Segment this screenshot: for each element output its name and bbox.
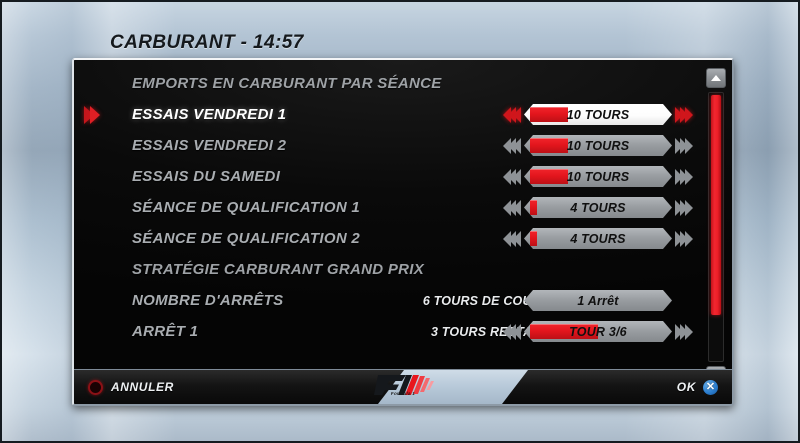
increment-arrows-icon[interactable] — [675, 169, 705, 185]
value-bar-fill — [530, 169, 568, 184]
cancel-button[interactable]: ANNULER — [74, 370, 404, 404]
value-bar: 4 TOURS — [524, 228, 672, 249]
value-bar: TOUR 3/6 — [524, 321, 672, 342]
value-text: 10 TOURS — [567, 139, 630, 153]
value-bar: 10 TOURS — [524, 104, 672, 125]
value-bar-fill — [530, 138, 568, 153]
decrement-arrows-icon[interactable] — [491, 169, 521, 185]
selection-marker-icon — [84, 105, 120, 125]
setting-label: ESSAIS VENDREDI 2 — [132, 137, 286, 154]
page-title: CARBURANT - 14:57 — [110, 32, 304, 54]
value-text: 10 TOURS — [567, 170, 630, 184]
setting-row[interactable]: NOMBRE D'ARRÊTS6 TOURS DE COURSE1 Arrêt — [74, 285, 732, 316]
setting-row[interactable]: SÉANCE DE QUALIFICATION 24 TOURS — [74, 223, 732, 254]
setting-label: ESSAIS DU SAMEDI — [132, 168, 280, 185]
section-heading-label: STRATÉGIE CARBURANT GRAND PRIX — [132, 261, 424, 278]
increment-arrows-icon[interactable] — [675, 107, 705, 123]
decrement-arrows-icon[interactable] — [491, 231, 521, 247]
setting-row[interactable]: ARRÊT 13 TOURS RESTANTSTOUR 3/6 — [74, 316, 732, 347]
value-stepper[interactable]: 10 TOURS — [491, 166, 705, 188]
decrement-arrows-icon[interactable] — [491, 138, 521, 154]
setting-label: ARRÊT 1 — [132, 323, 198, 340]
value-stepper[interactable]: 10 TOURS — [491, 135, 705, 157]
value-text: 1 Arrêt — [577, 294, 618, 308]
increment-arrows-icon[interactable] — [675, 200, 705, 216]
chevron-up-icon — [711, 75, 721, 81]
value-text: 10 TOURS — [567, 108, 630, 122]
value-bar: 4 TOURS — [524, 197, 672, 218]
value-stepper[interactable]: 10 TOURS — [491, 104, 705, 126]
setting-label: ESSAIS VENDREDI 1 — [132, 106, 286, 123]
value-stepper[interactable]: 4 TOURS — [491, 197, 705, 219]
value-text: 4 TOURS — [570, 232, 625, 246]
f1-logo: Formula 1 — [372, 373, 434, 401]
circle-button-icon — [88, 380, 103, 395]
section-heading-label: EMPORTS EN CARBURANT PAR SÉANCE — [132, 75, 442, 92]
value-bar: 10 TOURS — [524, 135, 672, 156]
value-bar: 10 TOURS — [524, 166, 672, 187]
section-heading-row: EMPORTS EN CARBURANT PAR SÉANCE — [74, 68, 732, 99]
cancel-label: ANNULER — [111, 380, 174, 394]
increment-arrows-icon[interactable] — [675, 138, 705, 154]
f1-logo-caption: Formula 1 — [372, 391, 434, 396]
setting-label: NOMBRE D'ARRÊTS — [132, 292, 283, 309]
cross-button-icon: ✕ — [703, 380, 718, 395]
decrement-arrows-icon[interactable] — [491, 107, 521, 123]
value-text: TOUR 3/6 — [569, 325, 627, 339]
value-text: 4 TOURS — [570, 201, 625, 215]
value-bar-fill — [530, 200, 537, 215]
fuel-settings-panel: EMPORTS EN CARBURANT PAR SÉANCEESSAIS VE… — [72, 58, 734, 406]
section-heading-row: STRATÉGIE CARBURANT GRAND PRIX — [74, 254, 732, 285]
scrollbar-thumb[interactable] — [711, 95, 721, 315]
value-bar-fill — [530, 107, 568, 122]
scroll-up-button[interactable] — [706, 68, 726, 88]
decrement-arrows-icon[interactable] — [491, 200, 521, 216]
setting-row[interactable]: ESSAIS VENDREDI 210 TOURS — [74, 130, 732, 161]
game-screen: CARBURANT - 14:57 EMPORTS EN CARBURANT P… — [0, 0, 800, 443]
ok-button[interactable]: OK ✕ — [502, 370, 732, 404]
footer-bar: ANNULER Formula 1 OK ✕ — [74, 369, 732, 404]
value-stepper[interactable]: 1 Arrêt — [491, 290, 705, 312]
value-stepper[interactable]: 4 TOURS — [491, 228, 705, 250]
increment-arrows-icon[interactable] — [675, 231, 705, 247]
panel-background: EMPORTS EN CARBURANT PAR SÉANCEESSAIS VE… — [74, 60, 732, 404]
decrement-arrows-icon[interactable] — [491, 324, 521, 340]
setting-label: SÉANCE DE QUALIFICATION 1 — [132, 199, 360, 216]
setting-row[interactable]: ESSAIS DU SAMEDI10 TOURS — [74, 161, 732, 192]
value-bar-fill — [530, 231, 537, 246]
ok-label: OK — [677, 380, 696, 394]
scrollbar[interactable] — [706, 68, 726, 386]
setting-row[interactable]: ESSAIS VENDREDI 110 TOURS — [74, 99, 732, 130]
value-stepper[interactable]: TOUR 3/6 — [491, 321, 705, 343]
settings-list: EMPORTS EN CARBURANT PAR SÉANCEESSAIS VE… — [74, 68, 732, 347]
value-bar: 1 Arrêt — [524, 290, 672, 311]
setting-label: SÉANCE DE QUALIFICATION 2 — [132, 230, 360, 247]
scrollbar-track[interactable] — [708, 92, 724, 362]
increment-arrows-icon[interactable] — [675, 324, 705, 340]
setting-row[interactable]: SÉANCE DE QUALIFICATION 14 TOURS — [74, 192, 732, 223]
